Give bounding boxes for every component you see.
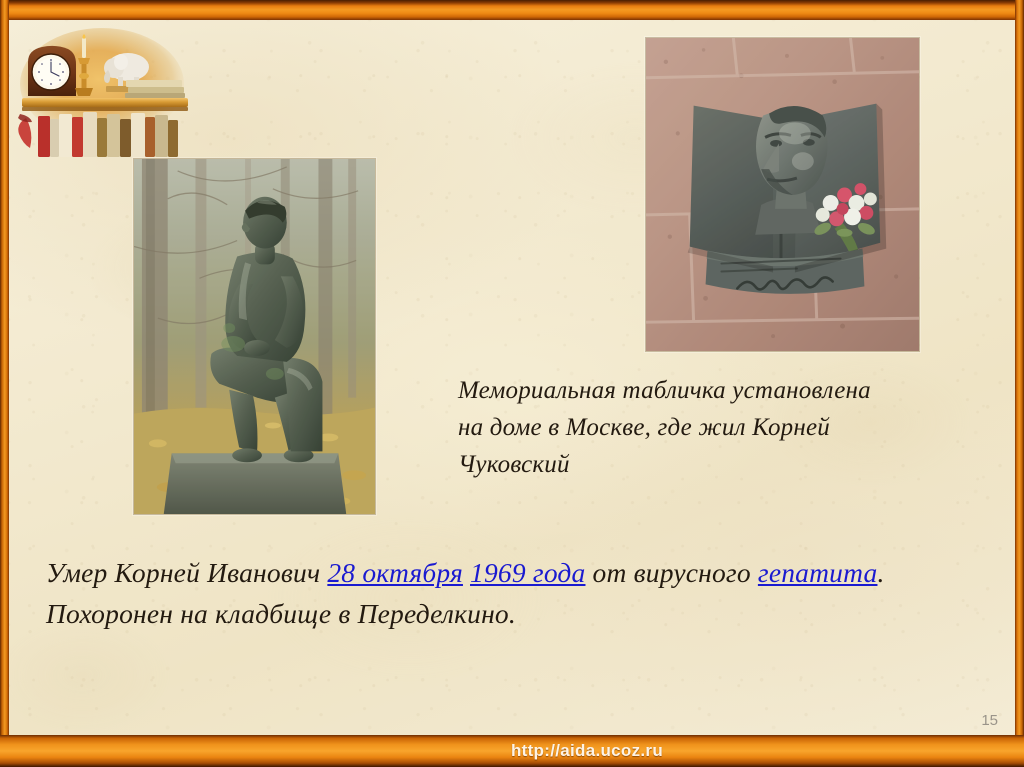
body-text-part-2	[463, 557, 470, 588]
body-line-1: Умер Корней Иванович 28 октября 1969 год…	[46, 552, 996, 593]
presentation-slide: Мемориальная табличка установлена на дом…	[0, 0, 1024, 767]
caption-line-2: на доме в Москве, где жил Корней	[458, 409, 928, 446]
body-text-part-4: .	[877, 557, 884, 588]
right-border-bar	[1015, 0, 1024, 767]
page-number: 15	[981, 712, 998, 729]
caption-line-3: Чуковский	[458, 446, 928, 483]
caption-line-1: Мемориальная табличка установлена	[458, 372, 928, 409]
body-line-2: Похоронен на кладбище в Переделкино.	[46, 593, 996, 634]
link-28-oktyabrya[interactable]: 28 октября	[327, 557, 463, 588]
body-text-part-1: Умер Корней Иванович	[46, 557, 327, 588]
bookshelf-ornament-icon	[8, 22, 204, 157]
top-border-bar	[0, 0, 1024, 20]
statue-photo	[133, 158, 376, 515]
link-gepatita[interactable]: гепатита	[758, 557, 878, 588]
plaque-caption: Мемориальная табличка установлена на дом…	[458, 372, 928, 483]
footer-url[interactable]: http://aida.ucoz.ru	[0, 735, 1024, 767]
body-paragraph: Умер Корней Иванович 28 октября 1969 год…	[46, 552, 996, 634]
body-text-part-3: от вирусного	[585, 557, 757, 588]
memorial-plaque-photo	[645, 37, 920, 352]
link-1969-goda[interactable]: 1969 года	[470, 557, 585, 588]
